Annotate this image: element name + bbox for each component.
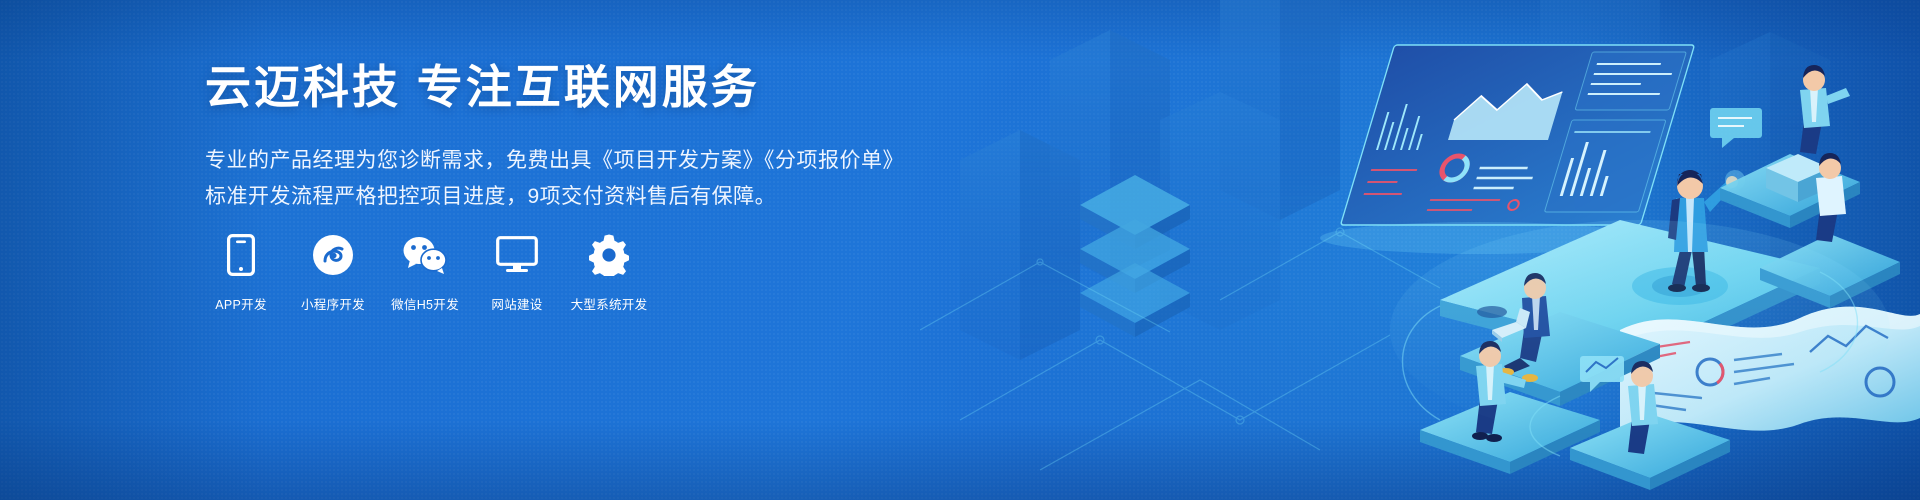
illustration-artwork (920, 0, 1920, 500)
page-title: 云迈科技 专注互联网服务 (205, 62, 925, 113)
gear-icon (588, 232, 630, 278)
service-item-app[interactable]: APP开发 (205, 232, 277, 313)
service-item-mini-program[interactable]: 小程序开发 (297, 232, 369, 313)
service-item-large-system[interactable]: 大型系统开发 (573, 232, 645, 313)
mobile-phone-icon (227, 232, 255, 278)
hero-subtitle: 专业的产品经理为您诊断需求，免费出具《项目开发方案》《分项报价单》 标准开发流程… (205, 143, 925, 215)
monitor-icon (496, 232, 538, 278)
subtitle-line-1: 专业的产品经理为您诊断需求，免费出具《项目开发方案》《分项报价单》 (205, 143, 925, 179)
service-item-wechat-h5[interactable]: 微信H5开发 (389, 232, 461, 313)
hero-copy: 云迈科技 专注互联网服务 专业的产品经理为您诊断需求，免费出具《项目开发方案》《… (205, 62, 925, 241)
service-label: 微信H5开发 (391, 294, 459, 313)
subtitle-line-2: 标准开发流程严格把控项目进度，9项交付资料售后有保障。 (205, 179, 925, 215)
hero-banner: 云迈科技 专注互联网服务 专业的产品经理为您诊断需求，免费出具《项目开发方案》《… (0, 0, 1920, 500)
service-label: 小程序开发 (301, 294, 365, 313)
person-right-lower (1816, 153, 1846, 242)
service-label: APP开发 (215, 294, 267, 313)
service-label: 网站建设 (491, 294, 542, 313)
service-item-website[interactable]: 网站建设 (481, 232, 553, 313)
service-list: APP开发 小程序开发 (205, 232, 665, 313)
wechat-icon (402, 232, 448, 278)
service-label: 大型系统开发 (571, 294, 648, 313)
mini-program-icon (312, 232, 354, 278)
